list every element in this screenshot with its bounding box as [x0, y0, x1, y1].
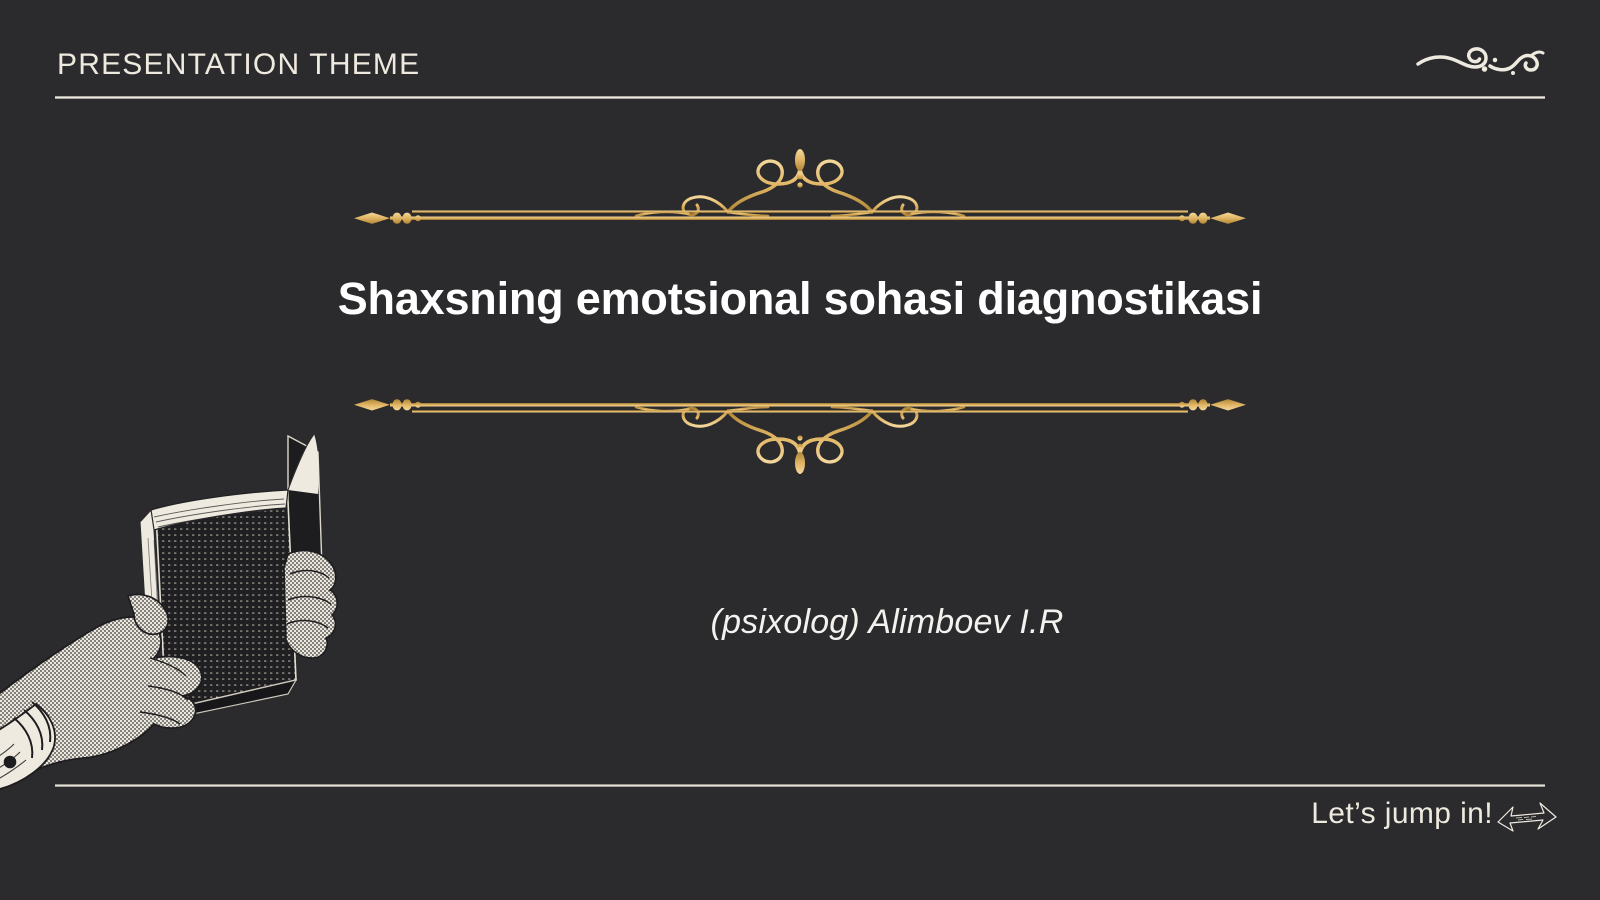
footer-divider-rule [55, 784, 1545, 787]
gold-filigree-divider-bottom [350, 397, 1250, 475]
subtitle-author: (psixolog) Alimboev I.R [0, 603, 1600, 642]
engraved-right-arrow-icon[interactable] [1496, 799, 1558, 833]
footer-cta-label[interactable]: Let’s jump in! [1311, 797, 1493, 831]
presentation-slide: PRESENTATION THEME [0, 0, 1600, 900]
header-divider-rule [55, 96, 1545, 99]
scroll-flourish-icon [1415, 38, 1545, 84]
page-title: Shaxsning emotsional sohasi diagnostikas… [0, 272, 1600, 326]
header-title: PRESENTATION THEME [57, 48, 420, 82]
gold-filigree-divider-top [350, 148, 1250, 226]
